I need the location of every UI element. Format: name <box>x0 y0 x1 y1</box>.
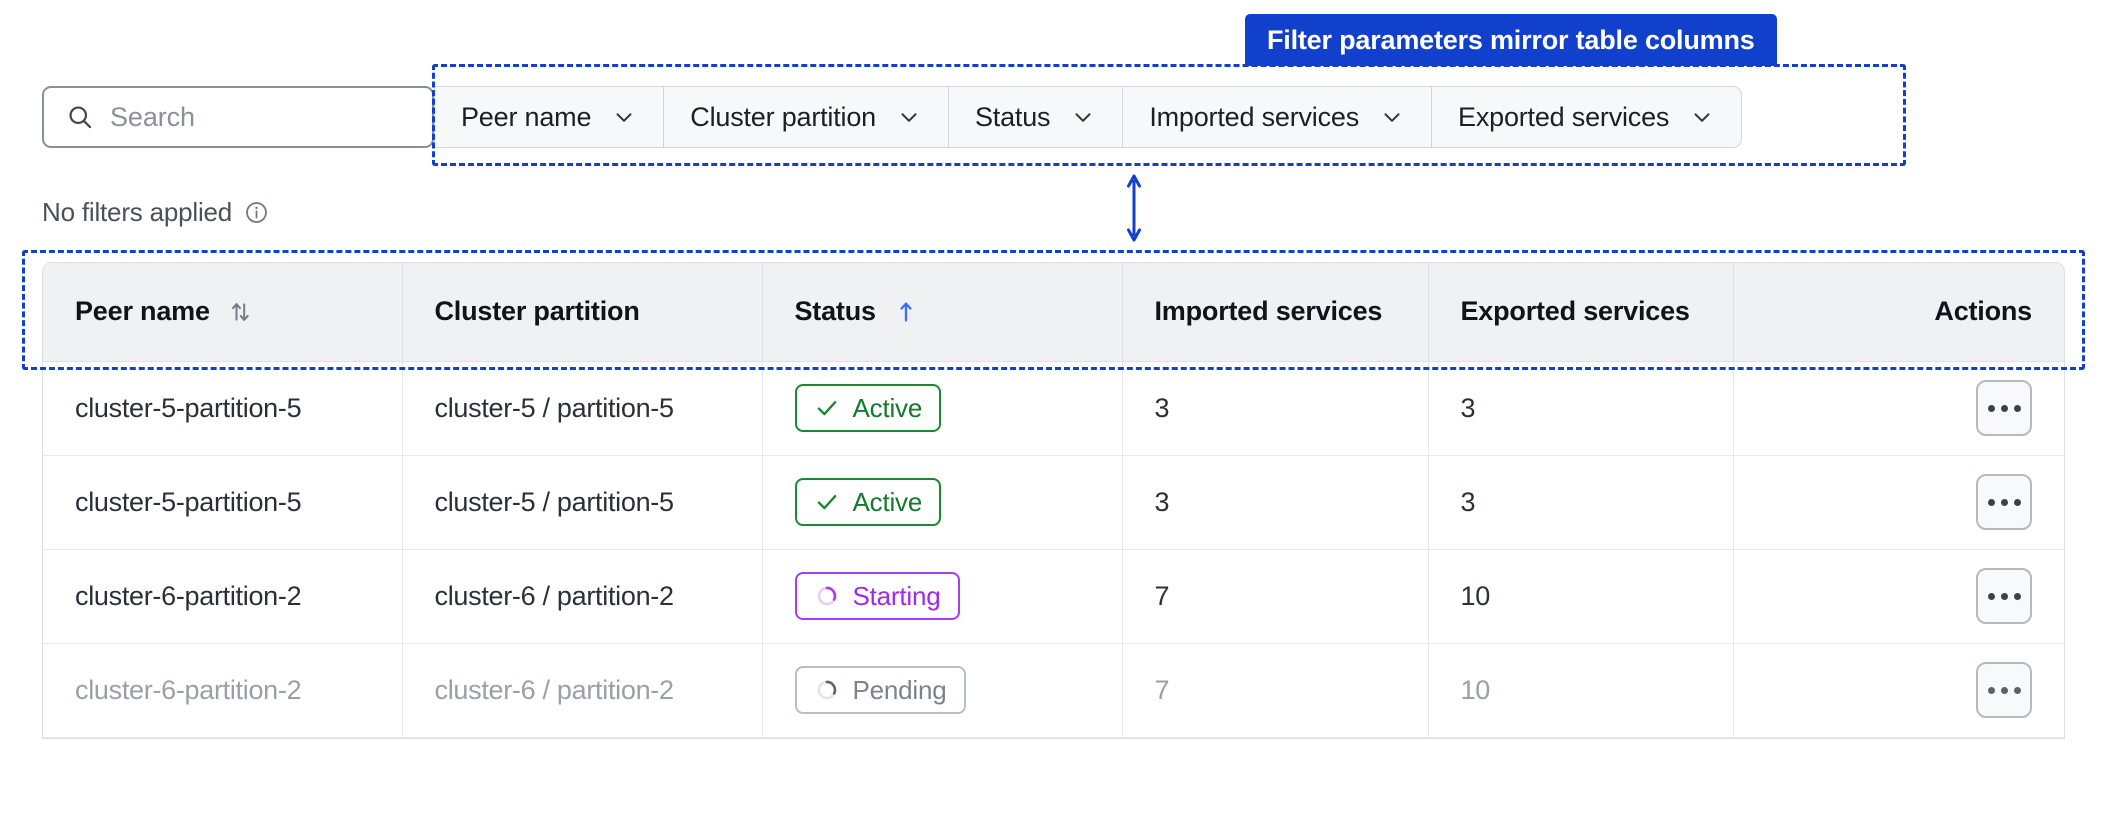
row-actions-button[interactable] <box>1976 380 2032 436</box>
chevron-down-icon <box>1689 104 1715 130</box>
cell-status: Starting <box>762 549 1122 643</box>
filter-status[interactable]: Status <box>949 86 1123 148</box>
column-header-imported-services[interactable]: Imported services <box>1122 263 1428 361</box>
spinner-icon <box>814 677 840 703</box>
cell-imported-services: 3 <box>1122 361 1428 455</box>
table-row[interactable]: cluster-5-partition-5 cluster-5 / partit… <box>43 361 2064 455</box>
status-badge: Active <box>795 478 942 526</box>
column-header-cluster-partition[interactable]: Cluster partition <box>402 263 762 361</box>
cell-exported-services: 3 <box>1428 455 1733 549</box>
cell-actions <box>1733 549 2064 643</box>
cell-exported-services: 10 <box>1428 549 1733 643</box>
status-badge: Starting <box>795 572 960 620</box>
chevron-down-icon <box>896 104 922 130</box>
status-badge-label: Pending <box>853 675 947 706</box>
table-header-row: Peer name Cluster partition <box>43 263 2064 361</box>
column-header-imported-services-label: Imported services <box>1155 296 1383 327</box>
filter-group: Peer name Cluster partition Status Impor… <box>434 86 1742 148</box>
cell-actions <box>1733 455 2064 549</box>
cell-imported-services: 7 <box>1122 549 1428 643</box>
more-options-icon <box>1988 499 2021 506</box>
row-actions-button[interactable] <box>1976 568 2032 624</box>
column-header-peer-name-label: Peer name <box>75 296 210 327</box>
sort-ascending-icon <box>892 298 920 326</box>
row-actions-button[interactable] <box>1976 474 2032 530</box>
chevron-down-icon <box>1070 104 1096 130</box>
filter-imported-services-label: Imported services <box>1149 102 1359 133</box>
cell-cluster-partition: cluster-5 / partition-5 <box>402 361 762 455</box>
cell-actions <box>1733 643 2064 737</box>
cell-peer-name: cluster-5-partition-5 <box>43 361 402 455</box>
status-badge: Active <box>795 384 942 432</box>
more-options-icon <box>1988 405 2021 412</box>
cell-status: Active <box>762 455 1122 549</box>
row-actions-button[interactable] <box>1976 662 2032 718</box>
cell-actions <box>1733 361 2064 455</box>
column-header-exported-services[interactable]: Exported services <box>1428 263 1733 361</box>
table-toolbar: Search Peer name Cluster partition Statu… <box>42 86 1742 148</box>
more-options-icon <box>1988 687 2021 694</box>
cell-cluster-partition: cluster-6 / partition-2 <box>402 643 762 737</box>
cell-peer-name: cluster-5-partition-5 <box>43 455 402 549</box>
search-input[interactable]: Search <box>110 102 195 133</box>
check-icon <box>814 395 840 421</box>
filter-status-label: Status <box>975 102 1050 133</box>
cell-peer-name: cluster-6-partition-2 <box>43 549 402 643</box>
table-row[interactable]: cluster-5-partition-5 cluster-5 / partit… <box>43 455 2064 549</box>
filter-peer-name-label: Peer name <box>461 102 591 133</box>
filter-status-text: No filters applied <box>42 197 269 228</box>
cell-status: Pending <box>762 643 1122 737</box>
peering-table-screen: Filter parameters mirror table columns S… <box>0 0 2118 816</box>
table-row[interactable]: cluster-6-partition-2 cluster-6 / partit… <box>43 643 2064 737</box>
annotation-arrow-icon <box>1125 172 1143 244</box>
column-header-status-label: Status <box>795 296 876 327</box>
search-input-wrapper[interactable]: Search <box>42 86 434 148</box>
cell-imported-services: 7 <box>1122 643 1428 737</box>
filter-exported-services-label: Exported services <box>1458 102 1669 133</box>
cell-status: Active <box>762 361 1122 455</box>
filter-cluster-partition-label: Cluster partition <box>690 102 876 133</box>
check-icon <box>814 489 840 515</box>
peers-table: Peer name Cluster partition <box>42 262 2065 739</box>
annotation-callout: Filter parameters mirror table columns <box>1245 14 1777 66</box>
status-badge: Pending <box>795 666 966 714</box>
status-badge-label: Active <box>853 393 923 424</box>
chevron-down-icon <box>611 104 637 130</box>
chevron-down-icon <box>1379 104 1405 130</box>
more-options-icon <box>1988 593 2021 600</box>
status-badge-label: Active <box>853 487 923 518</box>
cell-imported-services: 3 <box>1122 455 1428 549</box>
search-icon <box>66 103 94 131</box>
filter-imported-services[interactable]: Imported services <box>1123 86 1432 148</box>
filter-exported-services[interactable]: Exported services <box>1432 86 1742 148</box>
cell-peer-name: cluster-6-partition-2 <box>43 643 402 737</box>
column-header-status[interactable]: Status <box>762 263 1122 361</box>
column-header-actions: Actions <box>1733 263 2064 361</box>
spinner-icon <box>814 583 840 609</box>
cell-cluster-partition: cluster-6 / partition-2 <box>402 549 762 643</box>
filter-peer-name[interactable]: Peer name <box>434 86 664 148</box>
cell-cluster-partition: cluster-5 / partition-5 <box>402 455 762 549</box>
column-header-exported-services-label: Exported services <box>1461 296 1690 327</box>
filter-status-label: No filters applied <box>42 197 232 228</box>
cell-exported-services: 3 <box>1428 361 1733 455</box>
info-icon[interactable] <box>244 200 269 225</box>
filter-cluster-partition[interactable]: Cluster partition <box>664 86 949 148</box>
column-header-actions-label: Actions <box>1934 296 2032 327</box>
cell-exported-services: 10 <box>1428 643 1733 737</box>
table-row[interactable]: cluster-6-partition-2 cluster-6 / partit… <box>43 549 2064 643</box>
column-header-peer-name[interactable]: Peer name <box>43 263 402 361</box>
status-badge-label: Starting <box>853 581 941 612</box>
sort-unsorted-icon <box>226 298 254 326</box>
column-header-cluster-partition-label: Cluster partition <box>435 296 640 327</box>
